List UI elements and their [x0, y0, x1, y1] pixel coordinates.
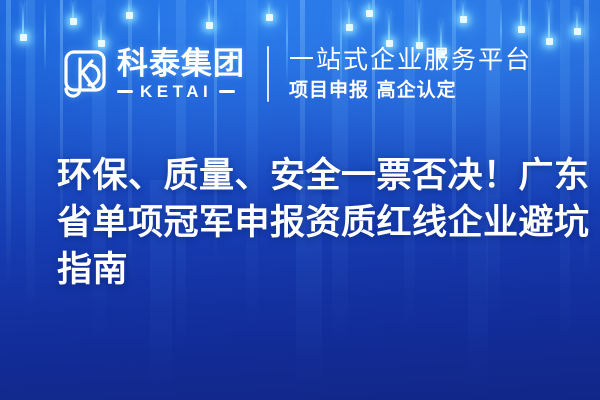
header-divider [267, 46, 269, 102]
title-line-2: 省单项冠军申报资质红线企业避坑 [57, 199, 563, 246]
company-logo[interactable]: 科泰集团 KETAI [56, 48, 245, 100]
meteor [128, 0, 130, 16]
meteor [348, 0, 350, 28]
banner-title: 环保、质量、安全一票否决！广东 省单项冠军申报资质红线企业避坑 指南 [57, 152, 563, 293]
tagline-main: 一站式企业服务平台 [289, 47, 532, 73]
meteor [368, 0, 370, 14]
light-streak [44, 0, 46, 72]
title-line-1: 环保、质量、安全一票否决！广东 [57, 152, 563, 199]
dash-right-decoration [219, 90, 235, 93]
title-line-3: 指南 [57, 246, 563, 293]
meteor [72, 0, 74, 22]
meteor [520, 0, 522, 30]
dash-left-decoration [117, 90, 133, 93]
tagline-sub: 项目申报 高企认定 [289, 81, 532, 101]
header-tagline: 一站式企业服务平台 项目申报 高企认定 [289, 47, 532, 100]
company-name-en-row: KETAI [117, 83, 245, 100]
meteor [462, 0, 464, 20]
company-name-cn: 科泰集团 [117, 48, 245, 79]
meteor [576, 8, 578, 32]
ketai-kd-monogram-logo-icon [56, 48, 108, 100]
meteor [548, 0, 550, 42]
meteor [208, 0, 210, 26]
logo-wordmark: 科泰集团 KETAI [117, 48, 245, 100]
banner-header: 科泰集团 KETAI 一站式企业服务平台 项目申报 高企认定 [56, 38, 532, 110]
meteor [268, 0, 270, 18]
company-name-en: KETAI [140, 83, 212, 100]
meteor [22, 0, 24, 38]
promo-banner: 科泰集团 KETAI 一站式企业服务平台 项目申报 高企认定 环保、质量、安全一… [0, 0, 600, 400]
